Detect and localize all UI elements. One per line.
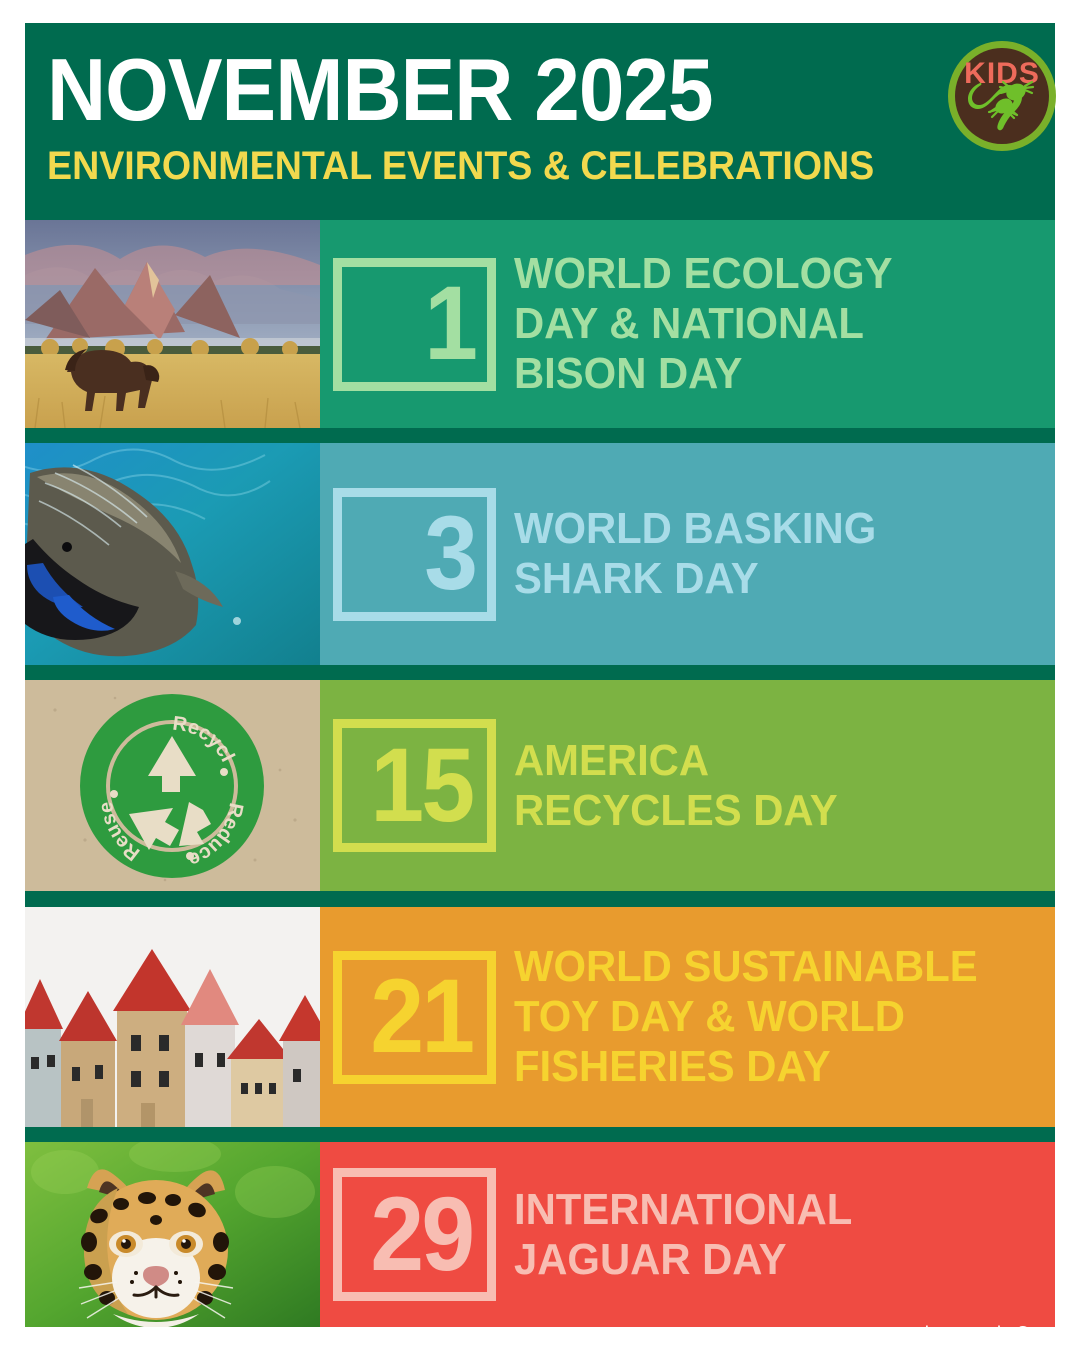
infographic-poster: NOVEMBER 2025 ENVIRONMENTAL EVENTS & CEL… — [0, 0, 1080, 1350]
event-row-body: 21WORLD SUSTAINABLE TOY DAY & WORLD FISH… — [320, 907, 1055, 1127]
event-row-body: 1WORLD ECOLOGY DAY & NATIONAL BISON DAY — [320, 220, 1055, 428]
day-number-box: 1 — [333, 258, 496, 391]
recycle-symbol-photo: Recycle Reduce Reuse — [25, 680, 320, 891]
event-row: 3WORLD BASKING SHARK DAY — [25, 443, 1055, 665]
page-subtitle: ENVIRONMENTAL EVENTS & CELEBRATIONS — [47, 137, 995, 189]
day-number: 1 — [424, 274, 475, 374]
day-number-box: 15 — [333, 719, 496, 852]
event-row-body: 15AMERICA RECYCLES DAY — [320, 680, 1055, 891]
jaguar-photo — [25, 1142, 320, 1327]
event-row: 29INTERNATIONAL JAGUAR DAY — [25, 1142, 1055, 1327]
day-number: 15 — [371, 736, 473, 836]
event-title: AMERICA RECYCLES DAY — [514, 736, 838, 836]
event-title: WORLD SUSTAINABLE TOY DAY & WORLD FISHER… — [514, 942, 978, 1092]
day-number: 21 — [371, 967, 473, 1067]
day-number-box: 21 — [333, 951, 496, 1084]
day-number: 29 — [371, 1185, 473, 1285]
day-number: 3 — [424, 504, 475, 604]
event-row: 21WORLD SUSTAINABLE TOY DAY & WORLD FISH… — [25, 907, 1055, 1127]
event-title: WORLD BASKING SHARK DAY — [514, 504, 876, 604]
event-row-body: 3WORLD BASKING SHARK DAY — [320, 443, 1055, 665]
page-title: NOVEMBER 2025 — [47, 35, 984, 137]
basking-shark-photo — [25, 443, 320, 665]
day-number-box: 29 — [333, 1168, 496, 1301]
kids-gecko-logo: KIDS — [946, 40, 1058, 152]
event-row: 1WORLD ECOLOGY DAY & NATIONAL BISON DAY — [25, 220, 1055, 428]
day-number-box: 3 — [333, 488, 496, 621]
event-rows: 1WORLD ECOLOGY DAY & NATIONAL BISON DAY — [25, 210, 1055, 1327]
image-credit: images via Canva — [925, 1323, 1068, 1344]
event-title: WORLD ECOLOGY DAY & NATIONAL BISON DAY — [514, 249, 893, 399]
event-row: Recycle Reduce Reuse 15AMERICA RECYCLES … — [25, 680, 1055, 891]
poster-header: NOVEMBER 2025 ENVIRONMENTAL EVENTS & CEL… — [25, 23, 1055, 210]
bison-mountain-photo — [25, 220, 320, 428]
event-title: INTERNATIONAL JAGUAR DAY — [514, 1185, 852, 1285]
wooden-toy-houses-photo — [25, 907, 320, 1127]
event-row-body: 29INTERNATIONAL JAGUAR DAY — [320, 1142, 1055, 1327]
